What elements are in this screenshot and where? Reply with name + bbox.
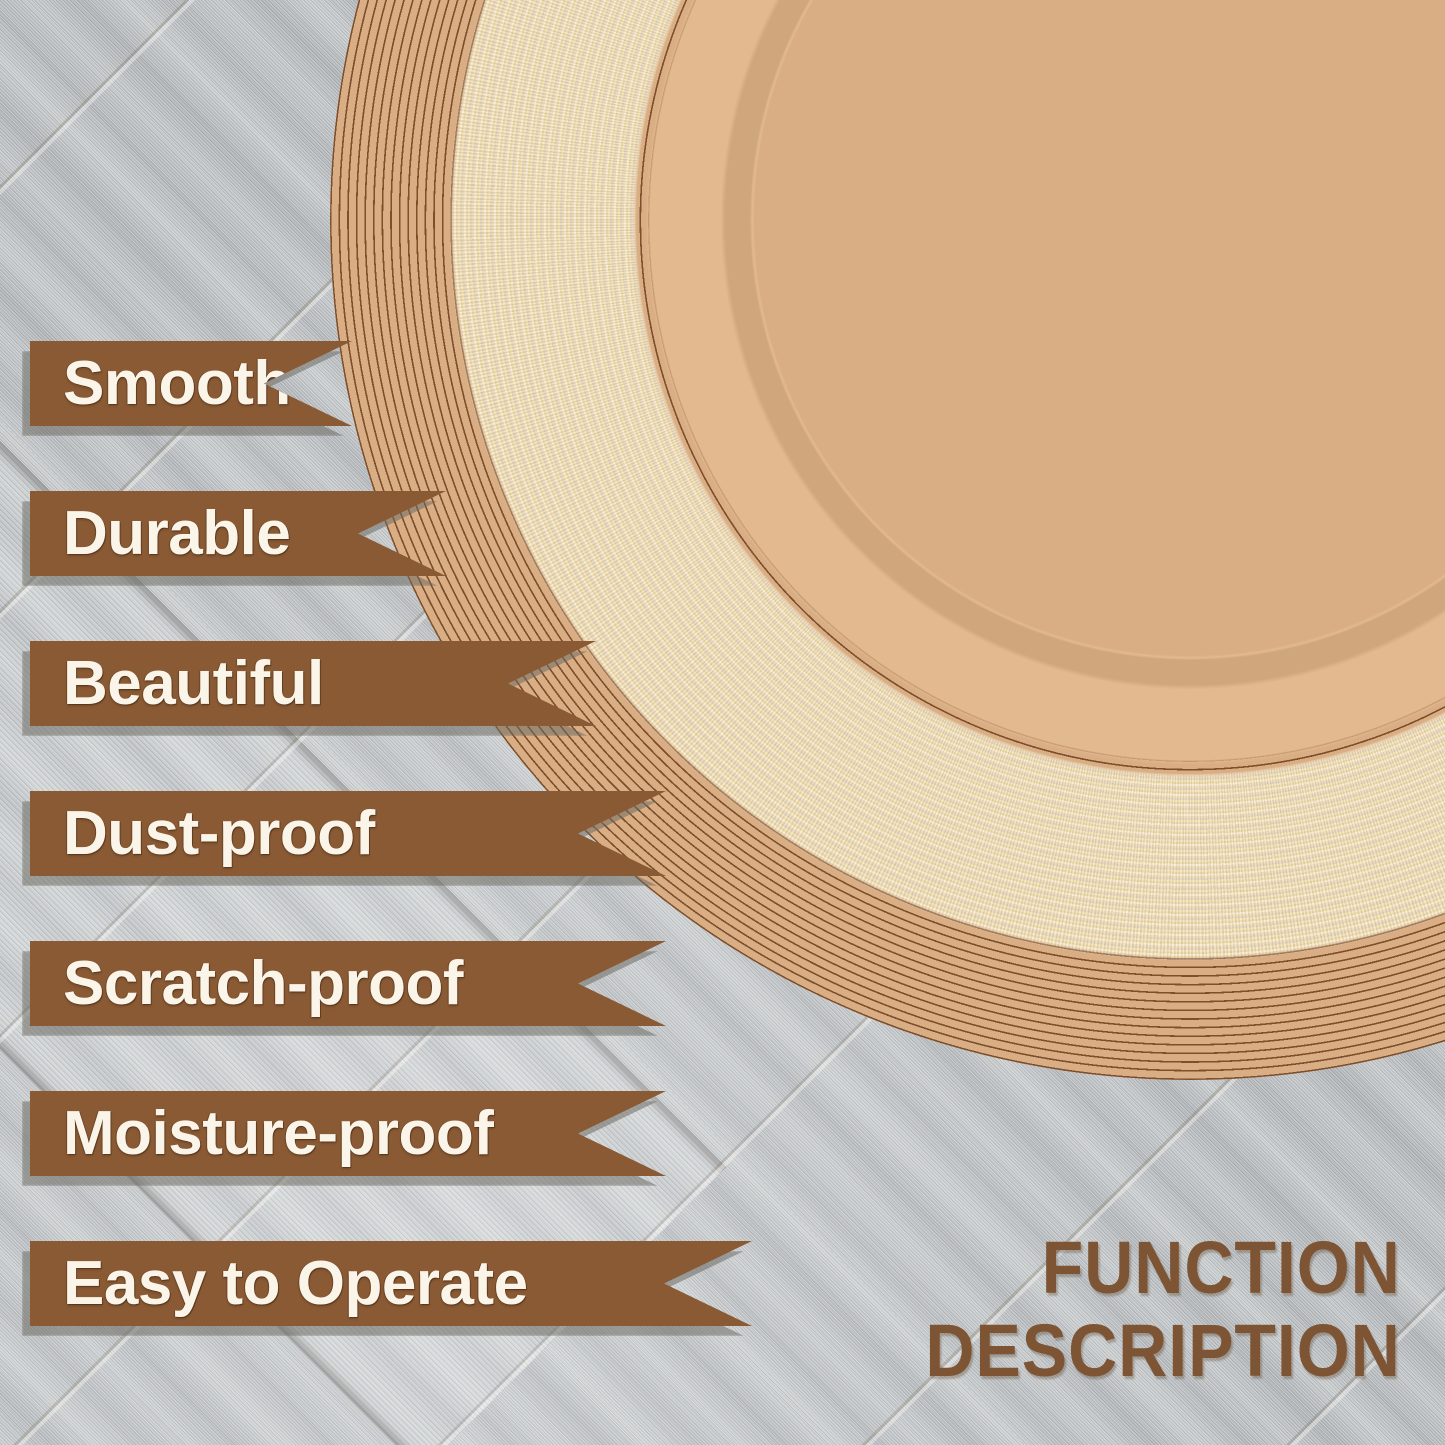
feature-banner-row: Dust-proof bbox=[0, 791, 1445, 941]
product-infographic: Smooth Durable Beautiful Dust-proof Scra bbox=[0, 0, 1445, 1445]
feature-label: Dust-proof bbox=[30, 803, 375, 865]
feature-banner-row: Scratch-proof bbox=[0, 941, 1445, 1091]
feature-label: Smooth bbox=[30, 353, 291, 415]
function-description-heading: FUNCTION DESCRIPTION bbox=[926, 1227, 1401, 1393]
feature-label: Durable bbox=[30, 503, 290, 565]
feature-label: Moisture-proof bbox=[30, 1103, 493, 1165]
heading-line-1: FUNCTION bbox=[926, 1227, 1401, 1310]
feature-banner-row: Moisture-proof bbox=[0, 1091, 1445, 1241]
feature-banner-row: Beautiful bbox=[0, 641, 1445, 791]
feature-banner-row: Durable bbox=[0, 491, 1445, 641]
heading-line-2: DESCRIPTION bbox=[926, 1310, 1401, 1393]
feature-label: Easy to Operate bbox=[30, 1253, 528, 1315]
feature-banner-dust-proof[interactable]: Dust-proof bbox=[30, 791, 666, 876]
feature-banner-moisture-proof[interactable]: Moisture-proof bbox=[30, 1091, 666, 1176]
feature-label: Beautiful bbox=[30, 653, 324, 715]
feature-label: Scratch-proof bbox=[30, 953, 463, 1015]
feature-banner-durable[interactable]: Durable bbox=[30, 491, 446, 576]
feature-banner-scratch-proof[interactable]: Scratch-proof bbox=[30, 941, 666, 1026]
feature-banner-easy-to-operate[interactable]: Easy to Operate bbox=[30, 1241, 752, 1326]
feature-banner-smooth[interactable]: Smooth bbox=[30, 341, 352, 426]
feature-banner-row: Smooth bbox=[0, 341, 1445, 491]
